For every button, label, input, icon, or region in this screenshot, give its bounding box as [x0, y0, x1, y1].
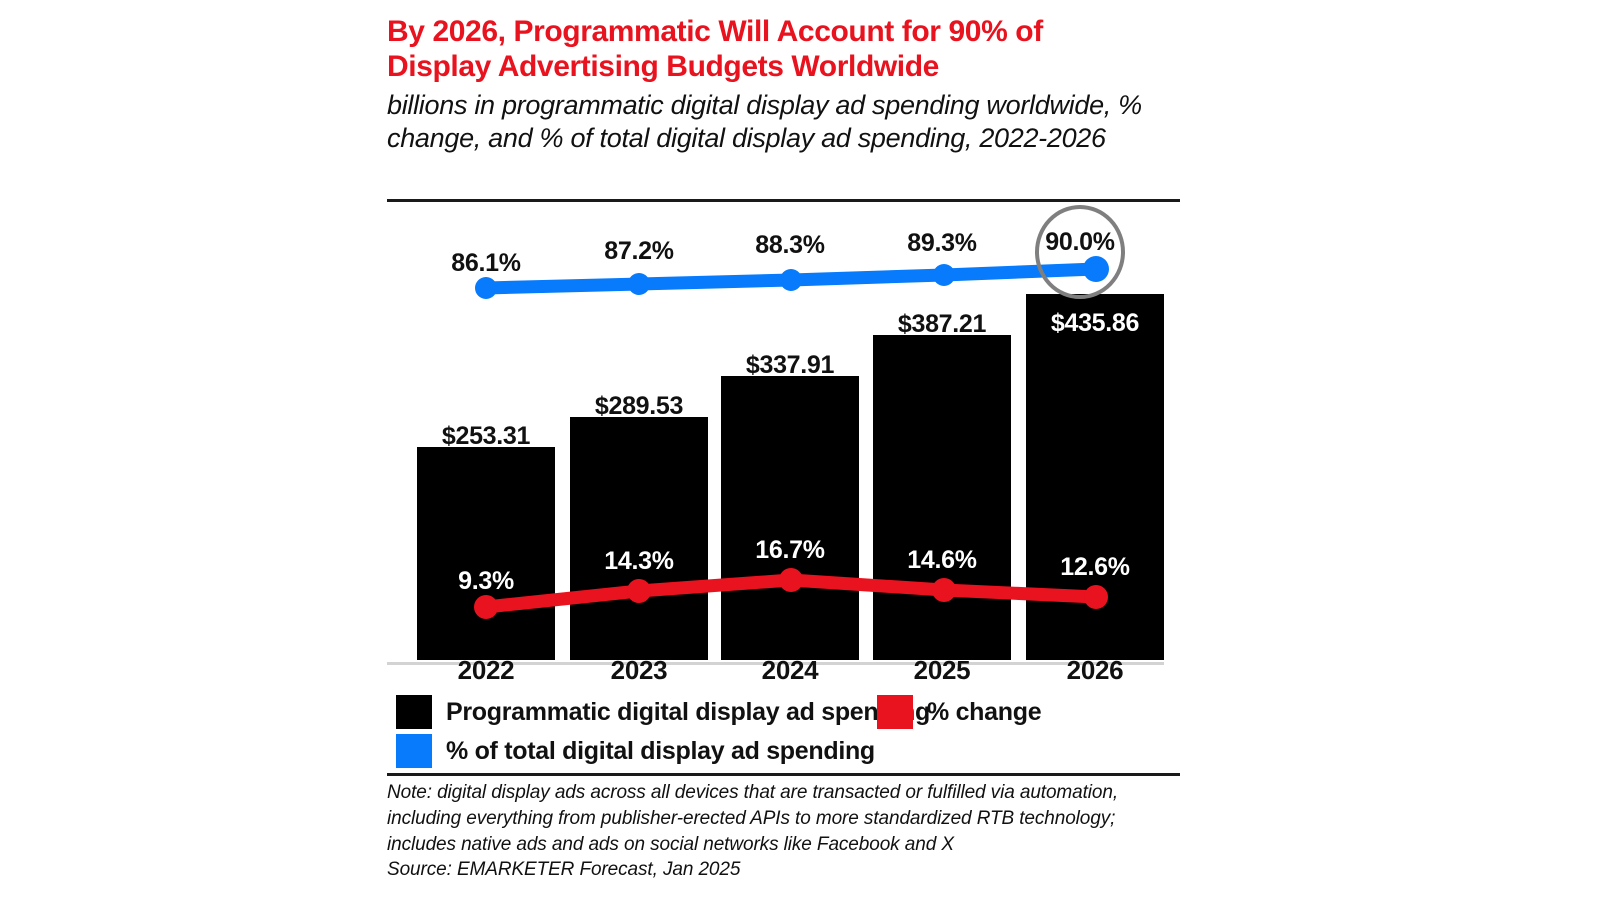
chart-source: Source: EMARKETER Forecast, Jan 2025: [387, 857, 1167, 883]
x-tick-label: 2022: [417, 655, 555, 686]
x-tick-label: 2025: [873, 655, 1011, 686]
pct-of-total-label: 90.0%: [1011, 228, 1149, 257]
pct-of-total-label: 87.2%: [570, 237, 708, 266]
x-tick-label: 2026: [1026, 655, 1164, 686]
pct-of-total-label: 88.3%: [721, 231, 859, 260]
legend-item-programmatic-spending[interactable]: Programmatic digital display ad spending: [396, 693, 930, 731]
pct-of-total-label: 89.3%: [873, 229, 1011, 258]
chart-figure: By 2026, Programmatic Will Account for 9…: [0, 0, 1600, 900]
marker-pct-change: [1084, 585, 1108, 609]
pct-change-label: 16.7%: [721, 536, 859, 565]
pct-of-total-label: 86.1%: [417, 249, 555, 278]
chart-subtitle: billions in programmatic digital display…: [387, 89, 1157, 156]
marker-pct-of-total: [780, 269, 802, 291]
chart-header: By 2026, Programmatic Will Account for 9…: [387, 14, 1187, 156]
legend-row-1: Programmatic digital display ad spending…: [396, 693, 1186, 731]
marker-pct-change: [932, 578, 956, 602]
footer-divider: [387, 773, 1180, 776]
marker-pct-change: [779, 568, 803, 592]
legend-row-2: % of total digital display ad spending: [396, 732, 1186, 770]
legend-label: % change: [927, 698, 1041, 727]
chart-title: By 2026, Programmatic Will Account for 9…: [387, 14, 1127, 85]
pct-change-label: 14.6%: [873, 546, 1011, 575]
legend-item-pct-of-total[interactable]: % of total digital display ad spending: [396, 732, 875, 770]
legend-item-pct-change[interactable]: % change: [877, 693, 1041, 731]
pct-change-label: 9.3%: [417, 567, 555, 596]
x-tick-label: 2023: [570, 655, 708, 686]
marker-pct-of-total: [628, 273, 650, 295]
chart-note: Note: digital display ads across all dev…: [387, 780, 1167, 857]
legend-swatch-red-icon: [877, 695, 913, 729]
legend-swatch-blue-icon: [396, 734, 432, 768]
marker-pct-change: [627, 579, 651, 603]
marker-pct-change: [474, 595, 498, 619]
marker-pct-of-total: [1083, 256, 1109, 282]
x-tick-label: 2024: [721, 655, 859, 686]
legend-label: % of total digital display ad spending: [446, 737, 875, 766]
plot-area: $253.31 $289.53 $337.91 $387.21 $435.86: [387, 201, 1180, 663]
pct-change-label: 12.6%: [1026, 553, 1164, 582]
marker-pct-of-total: [933, 264, 955, 286]
legend-label: Programmatic digital display ad spending: [446, 698, 930, 727]
legend-swatch-black-icon: [396, 695, 432, 729]
chart-footer: Note: digital display ads across all dev…: [387, 780, 1167, 883]
pct-change-label: 14.3%: [570, 547, 708, 576]
marker-pct-of-total: [475, 277, 497, 299]
